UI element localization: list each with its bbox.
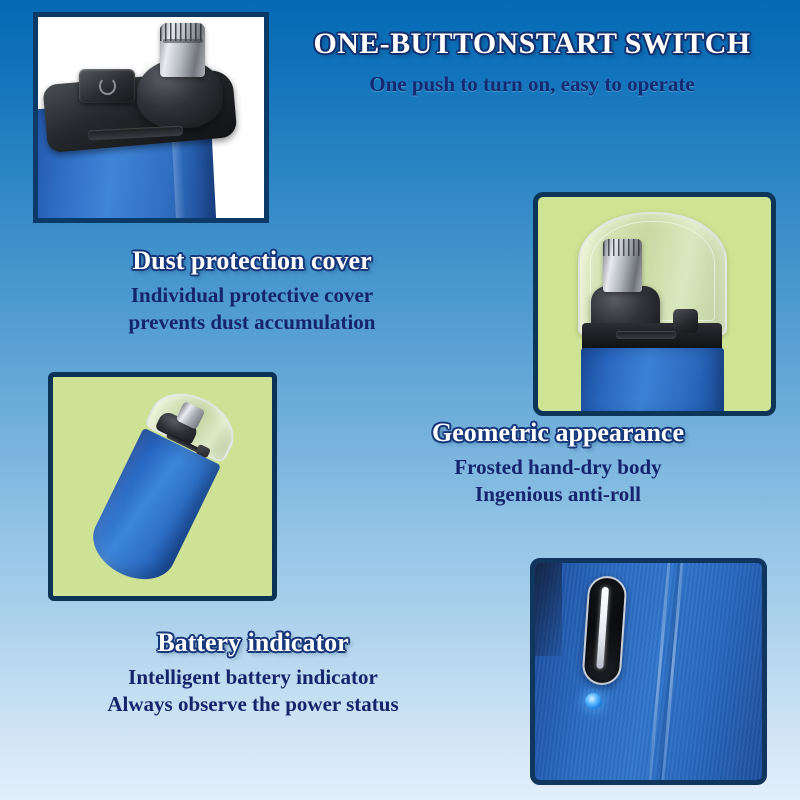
trimmer-with-cap-shape [578,212,727,411]
headline-block: ONE-BUTTONSTART SWITCH One push to turn … [272,28,792,97]
body-shadow-edge-shape [535,563,562,656]
power-button-shape [673,309,698,334]
photo-button-head [38,17,264,218]
product-image-full-body [48,372,277,601]
trimmer-metal-cutter-head-shape [160,23,205,77]
feature-line: Ingenious anti-roll [388,481,728,508]
photo-dust-cap [538,197,771,411]
power-button-shape [79,69,136,103]
page-subtitle: One push to turn on, easy to operate [272,72,792,97]
feature-block-geometric-appearance: Geometric appearance Frosted hand-dry bo… [388,418,728,508]
feature-line: Frosted hand-dry body [388,454,728,481]
trimmer-blue-body-shape [581,348,724,411]
feature-title-dust-protection-cover: Dust protection cover [92,246,412,275]
feature-body-dust-protection-cover: Individual protective cover prevents dus… [92,282,412,336]
feature-line: Intelligent battery indicator [58,664,448,691]
feature-block-dust-protection-cover: Dust protection cover Individual protect… [92,246,412,336]
power-button-shape [581,575,627,686]
product-image-dust-cap [533,192,776,416]
feature-line: prevents dust accumulation [92,309,412,336]
feature-block-battery-indicator: Battery indicator Intelligent battery in… [58,628,448,718]
page-title: ONE-BUTTONSTART SWITCH [272,28,792,60]
body-slot-shape [616,331,676,339]
trimmer-full-unit-shape [81,381,244,593]
frosted-body-surface-shape [535,563,762,780]
feature-title-battery-indicator: Battery indicator [58,628,448,657]
photo-led-indicator [535,563,762,780]
product-image-led-indicator [530,558,767,785]
product-feature-poster: ONE-BUTTONSTART SWITCH One push to turn … [0,0,800,800]
trimmer-metal-cutter-head-shape [603,239,642,292]
product-image-button-head [33,12,269,223]
feature-body-geometric-appearance: Frosted hand-dry body Ingenious anti-rol… [388,454,728,508]
feature-line: Always observe the power status [58,691,448,718]
photo-full-body [53,377,272,596]
feature-line: Individual protective cover [92,282,412,309]
feature-body-battery-indicator: Intelligent battery indicator Always obs… [58,664,448,718]
feature-title-geometric-appearance: Geometric appearance [388,418,728,447]
